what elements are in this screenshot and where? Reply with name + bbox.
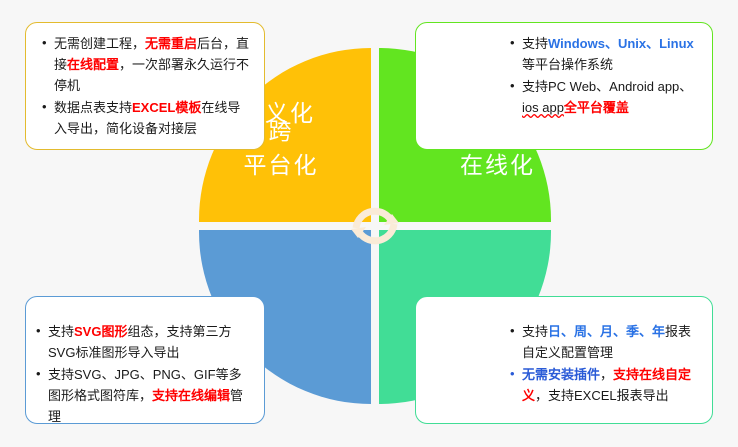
list-item: 无需创建工程，无需重启后台，直接在线配置，一次部署永久运行不停机 xyxy=(42,33,252,96)
list-item: 支持PC Web、Android app、ios app全平台覆盖 xyxy=(510,76,700,118)
callout-graphics-list: 支持SVG图形组态，支持第三方SVG标准图形导入导出 支持SVG、JPG、PNG… xyxy=(36,321,252,427)
callout-cross-platform: 支持Windows、Unix、Linux等平台操作系统 支持PC Web、And… xyxy=(415,22,713,150)
list-item: 支持SVG、JPG、PNG、GIF等多图形格式图符库，支持在线编辑管理 xyxy=(36,364,252,427)
callout-online: 无需创建工程，无需重启后台，直接在线配置，一次部署永久运行不停机 数据点表支持E… xyxy=(25,22,265,150)
infographic-canvas: 在线化 跨 平台化 图形 组态化 报表 自定义化 无需创建工程，无需重启后台，直… xyxy=(0,0,738,447)
callout-online-list: 无需创建工程，无需重启后台，直接在线配置，一次部署永久运行不停机 数据点表支持E… xyxy=(42,33,252,139)
spellcheck-underlined-text: ios app xyxy=(522,100,564,115)
callout-report-list: 支持日、周、月、季、年报表自定义配置管理 无需安装插件，支持在线自定义，支持EX… xyxy=(510,321,700,406)
list-item: 数据点表支持EXCEL模板在线导入导出，简化设备对接层 xyxy=(42,97,252,139)
quadrant-label-online: 在线化 xyxy=(460,148,535,182)
list-item: 支持SVG图形组态，支持第三方SVG标准图形导入导出 xyxy=(36,321,252,363)
list-item: 无需安装插件，支持在线自定义，支持EXCEL报表导出 xyxy=(510,364,700,406)
callout-cross-platform-list: 支持Windows、Unix、Linux等平台操作系统 支持PC Web、And… xyxy=(510,33,700,118)
list-item: 支持Windows、Unix、Linux等平台操作系统 xyxy=(510,33,700,75)
callout-report: 支持日、周、月、季、年报表自定义配置管理 无需安装插件，支持在线自定义，支持EX… xyxy=(415,296,713,424)
list-item: 支持日、周、月、季、年报表自定义配置管理 xyxy=(510,321,700,363)
callout-graphics: 支持SVG图形组态，支持第三方SVG标准图形导入导出 支持SVG、JPG、PNG… xyxy=(25,296,265,424)
